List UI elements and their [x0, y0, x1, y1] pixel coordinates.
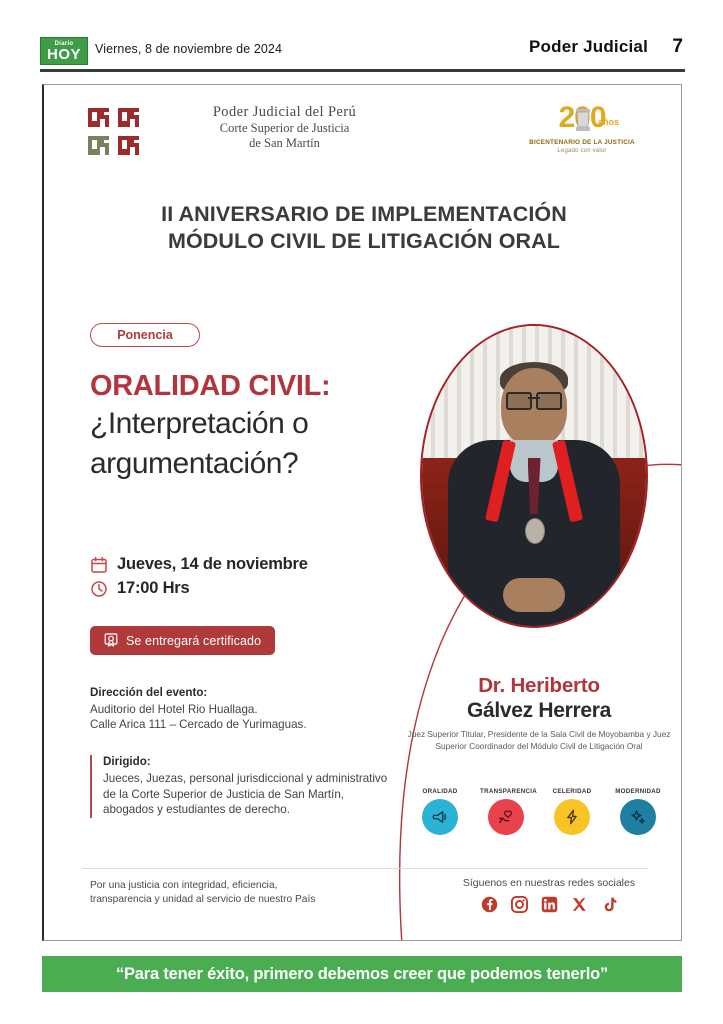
greca-pj-logo-icon: [86, 106, 142, 158]
x-twitter-icon[interactable]: [571, 896, 588, 913]
speaker-name-last: Gálvez Herrera: [404, 698, 674, 723]
address-heading: Dirección del evento:: [90, 686, 390, 699]
value-circle: [422, 799, 458, 835]
value-label: MODERNIDAD: [612, 788, 664, 795]
portrait-hands: [503, 578, 565, 612]
speaker-role: Juez Superior Titular, Presidente de la …: [404, 729, 674, 752]
headline-line-3: argumentación?: [90, 444, 420, 484]
event-datetime: Jueves, 14 de noviembre 17:00 Hrs: [90, 555, 420, 603]
value-label: TRANSPARENCIA: [480, 788, 532, 795]
social-icons: [424, 896, 674, 913]
event-date-text: Jueves, 14 de noviembre: [117, 555, 308, 574]
value-item-oralidad: ORALIDAD: [414, 788, 466, 835]
institution-line-1: Poder Judicial del Perú: [152, 104, 417, 121]
value-circle: [488, 799, 524, 835]
lightning-icon: [563, 808, 581, 826]
justice-urn-icon: [574, 107, 592, 133]
audience-heading: Dirigido:: [103, 755, 390, 768]
value-circle: [554, 799, 590, 835]
tiktok-icon[interactable]: [601, 896, 618, 913]
event-date-row: Jueves, 14 de noviembre: [90, 555, 420, 574]
speaker-info: Dr. Heriberto Gálvez Herrera Juez Superi…: [404, 674, 674, 752]
value-item-transparencia: TRANSPARENCIA: [480, 788, 532, 835]
bicentenary-line-1: BICENTENARIO DE LA JUSTICIA: [522, 139, 642, 146]
event-title-line-2: MÓDULO CIVIL DE LITIGACIÓN ORAL: [44, 228, 682, 255]
footer-divider: [82, 868, 648, 869]
page-number: 7: [672, 36, 683, 58]
certificate-button[interactable]: Se entregará certificado: [90, 626, 275, 655]
certificate-icon: [104, 633, 118, 648]
calendar-icon: [90, 556, 108, 574]
speaker-portrait: [420, 324, 648, 628]
issue-date: Viernes, 8 de noviembre de 2024: [95, 42, 282, 56]
institution-line-2: Corte Superior de Justicia: [152, 121, 417, 136]
event-poster-card: Poder Judicial del Perú Corte Superior d…: [42, 84, 682, 941]
slogan-line-1: Por una justicia con integridad, eficien…: [90, 879, 390, 893]
social-block: Síguenos en nuestras redes sociales: [424, 877, 674, 913]
newspaper-header: Diario HOY Viernes, 8 de noviembre de 20…: [0, 36, 723, 72]
ponencia-badge: Ponencia: [90, 323, 200, 347]
logo-main-text: HOY: [47, 47, 81, 62]
audience-body: Jueces, Juezas, personal jurisdiccional …: [103, 771, 390, 818]
headline-red: ORALIDAD CIVIL:: [90, 368, 420, 404]
header-divider: [40, 69, 685, 72]
event-time-row: 17:00 Hrs: [90, 579, 420, 598]
bicentenary-anos: años: [598, 117, 619, 127]
linkedin-icon[interactable]: [541, 896, 558, 913]
speaker-name-first: Dr. Heriberto: [404, 674, 674, 698]
address-line-2: Calle Arica 111 – Cercado de Yurimaguas.: [90, 717, 390, 732]
audience-block: Dirigido: Jueces, Juezas, personal juris…: [90, 755, 390, 818]
clock-icon: [90, 580, 108, 598]
event-title: II ANIVERSARIO DE IMPLEMENTACIÓN MÓDULO …: [44, 201, 682, 255]
facebook-icon[interactable]: [481, 896, 498, 913]
social-heading: Síguenos en nuestras redes sociales: [424, 877, 674, 889]
portrait-glasses-icon: [506, 392, 562, 406]
headline-line-2: ¿Interpretación o: [90, 404, 420, 444]
bicentenary-line-2: Legado con valor: [522, 148, 642, 154]
certificate-label: Se entregará certificado: [126, 634, 261, 648]
hand-heart-icon: [497, 808, 515, 826]
value-label: CELERIDAD: [546, 788, 598, 795]
megaphone-icon: [431, 808, 449, 826]
slogan-line-2: transparencia y unidad al servicio de nu…: [90, 893, 390, 907]
event-time-text: 17:00 Hrs: [117, 579, 190, 598]
value-circle: [620, 799, 656, 835]
instagram-icon[interactable]: [511, 896, 528, 913]
address-block: Dirección del evento: Auditorio del Hote…: [90, 686, 390, 732]
portrait-medal: [525, 518, 545, 544]
bicentenary-emblem: 200 años BICENTENARIO DE LA JUSTICIA Leg…: [522, 101, 642, 163]
quote-text: “Para tener éxito, primero debemos creer…: [116, 965, 608, 984]
section-title: Poder Judicial: [529, 37, 648, 57]
newspaper-page: Diario HOY Viernes, 8 de noviembre de 20…: [0, 0, 723, 1024]
value-item-celeridad: CELERIDAD: [546, 788, 598, 835]
institution-text: Poder Judicial del Perú Corte Superior d…: [152, 104, 417, 151]
event-headline: ORALIDAD CIVIL: ¿Interpretación o argume…: [90, 368, 420, 484]
quote-banner: “Para tener éxito, primero debemos creer…: [42, 956, 682, 992]
address-line-1: Auditorio del Hotel Rio Huallaga.: [90, 702, 390, 717]
diario-hoy-logo: Diario HOY: [40, 37, 88, 65]
sparkles-icon: [629, 808, 647, 826]
event-title-line-1: II ANIVERSARIO DE IMPLEMENTACIÓN: [44, 201, 682, 228]
institutional-header: Poder Judicial del Perú Corte Superior d…: [44, 99, 682, 171]
value-label: ORALIDAD: [414, 788, 466, 795]
values-icon-row: ORALIDAD TRANSPARENCIA: [404, 788, 674, 835]
value-item-modernidad: MODERNIDAD: [612, 788, 664, 835]
institution-line-3: de San Martín: [152, 136, 417, 151]
slogan: Por una justicia con integridad, eficien…: [90, 879, 390, 907]
